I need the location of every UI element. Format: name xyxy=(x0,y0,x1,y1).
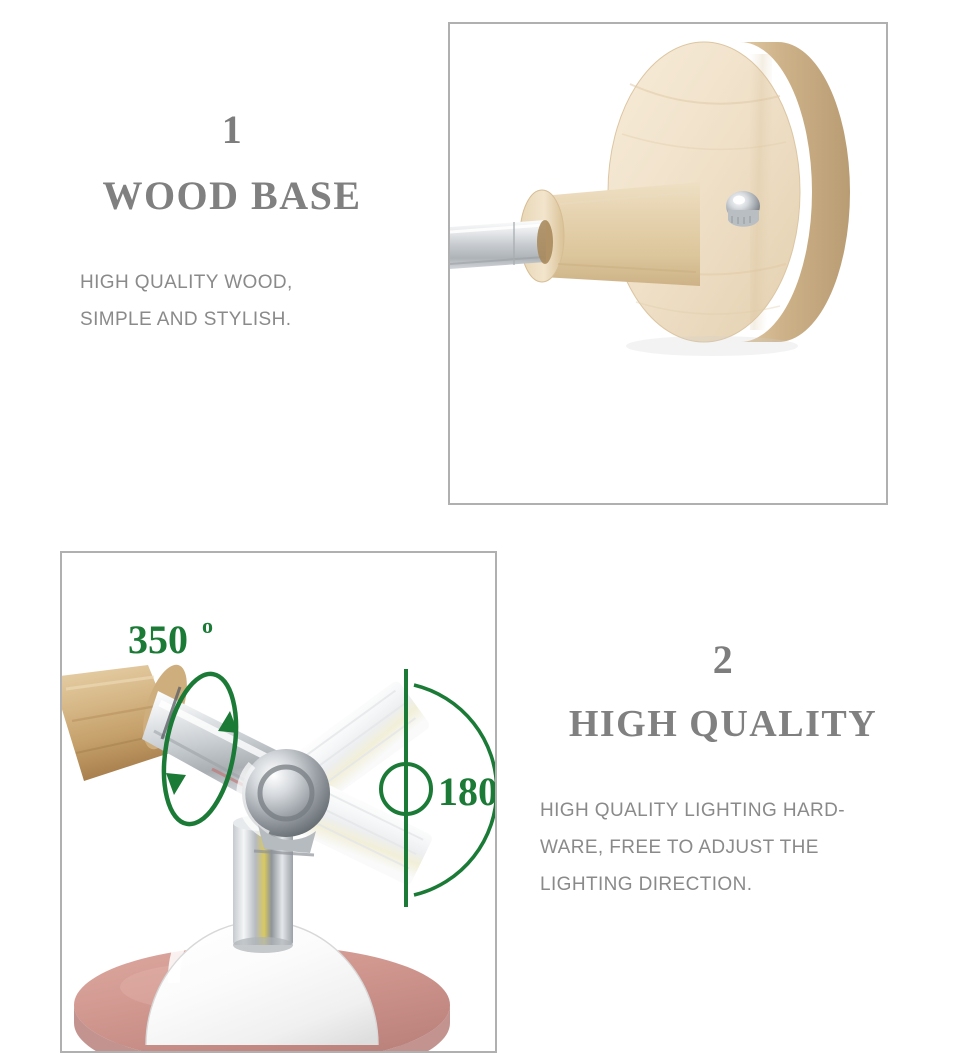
adjustable-joint-illustration: 350 o 180 o xyxy=(62,553,495,1051)
chrome-rod xyxy=(450,220,553,269)
section-one-title: WOOD BASE xyxy=(62,174,402,218)
section-two-body: HIGH QUALITY LIGHTING HARD- WARE, FREE T… xyxy=(528,792,918,903)
rotation-value-label: 350 xyxy=(128,617,188,662)
section-two-body-line: HIGH QUALITY LIGHTING HARD- xyxy=(540,792,918,829)
section-two-body-line: LIGHTING DIRECTION. xyxy=(540,866,918,903)
section-one-number: 1 xyxy=(62,110,402,150)
wood-rim-sheen xyxy=(750,54,772,330)
disc-shadow xyxy=(626,336,798,356)
rotation-degree-symbol: o xyxy=(202,613,213,638)
section-one-body: HIGH QUALITY WOOD, SIMPLE AND STYLISH. xyxy=(62,264,402,338)
set-screw xyxy=(726,191,760,227)
section-two-text-block: 2 HIGH QUALITY HIGH QUALITY LIGHTING HAR… xyxy=(528,640,918,903)
wood-base-photo-frame xyxy=(448,22,888,505)
section-two-number: 2 xyxy=(528,640,918,680)
chrome-stem-foot xyxy=(233,937,293,953)
section-two-body-line: WARE, FREE TO ADJUST THE xyxy=(540,829,918,866)
wood-base-illustration xyxy=(450,24,886,503)
screw-highlight xyxy=(733,196,745,205)
section-one-body-line: SIMPLE AND STYLISH. xyxy=(80,301,402,338)
infographic-page: 1 WOOD BASE HIGH QUALITY WOOD, SIMPLE AN… xyxy=(0,0,960,1053)
adjustable-joint-photo-frame: 350 o 180 o xyxy=(60,551,497,1053)
section-two-title: HIGH QUALITY xyxy=(528,704,918,746)
tilt-value-label: 180 xyxy=(438,769,495,814)
rod-socket xyxy=(537,220,553,264)
section-one-text-block: 1 WOOD BASE HIGH QUALITY WOOD, SIMPLE AN… xyxy=(62,110,402,338)
section-one-body-line: HIGH QUALITY WOOD, xyxy=(80,264,402,301)
